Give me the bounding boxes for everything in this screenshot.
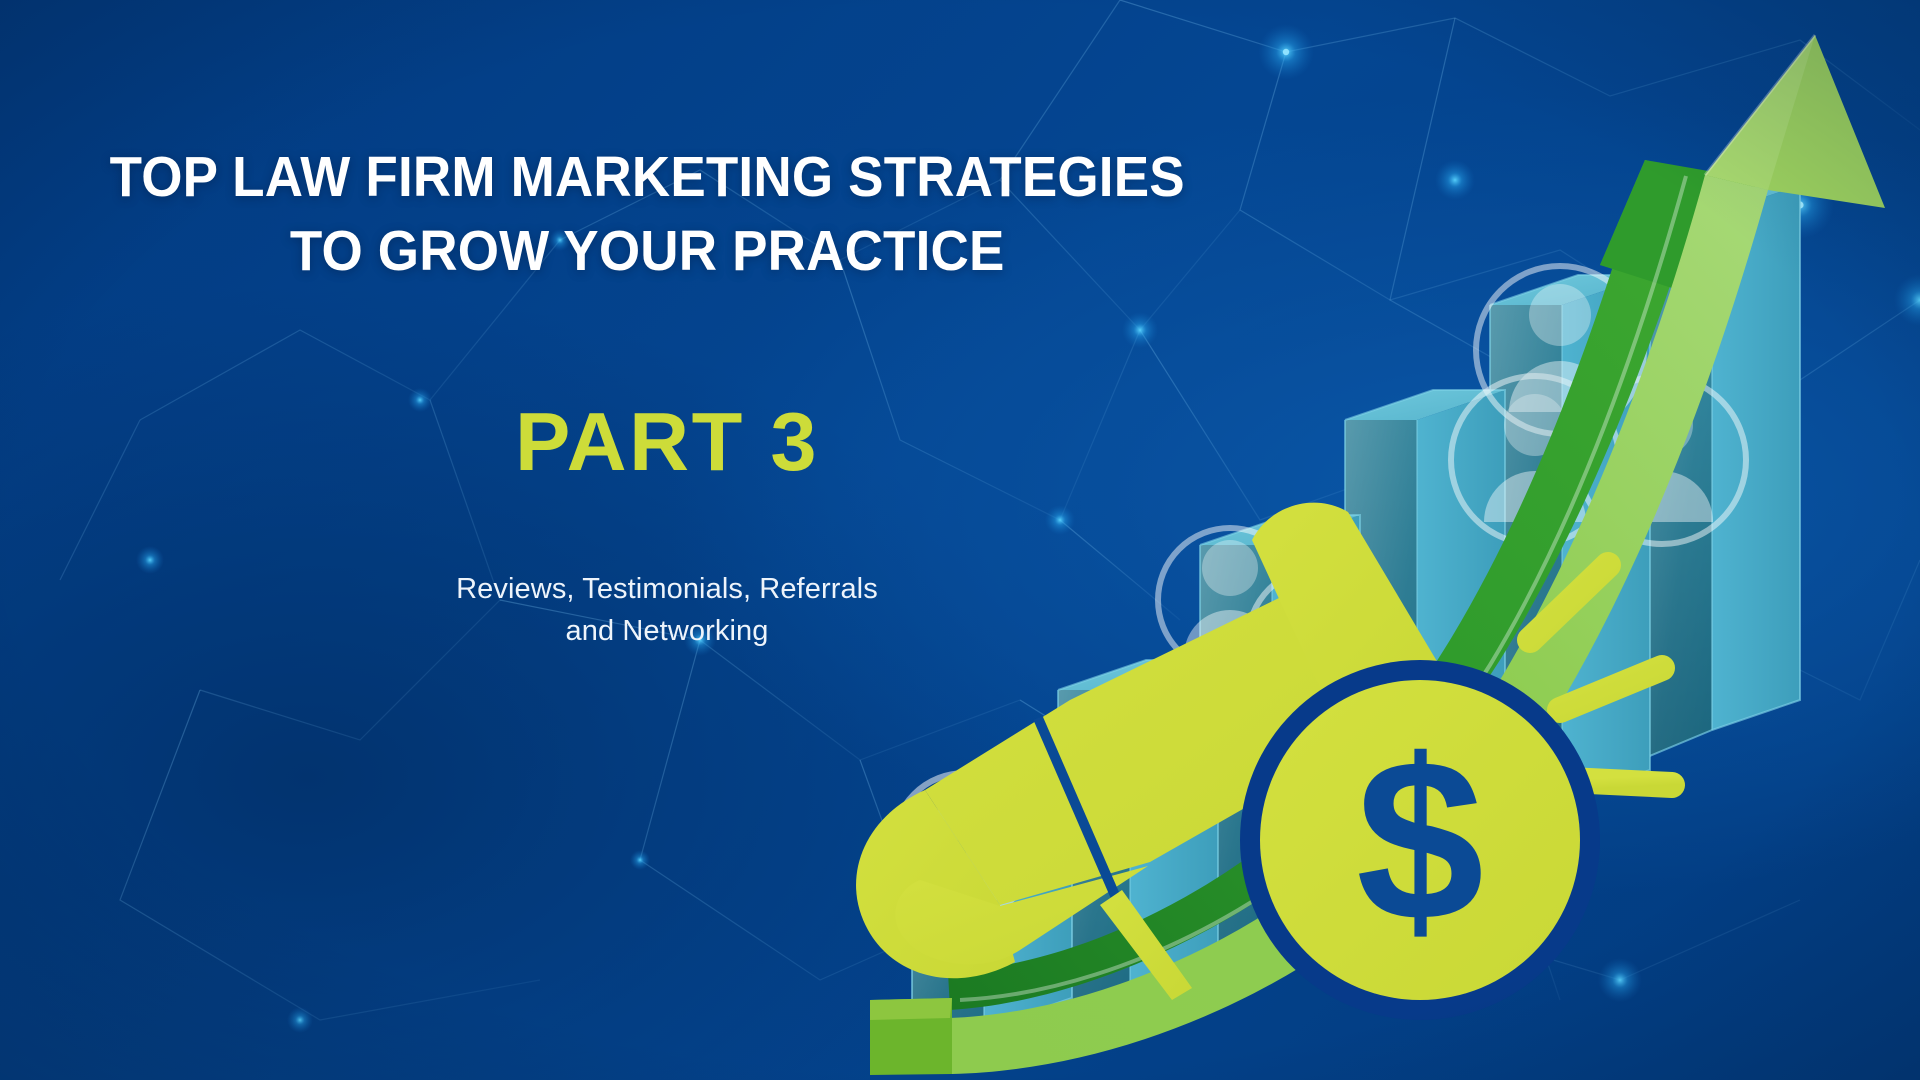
page-title: TOP LAW FIRM MARKETING STRATEGIES TO GRO…	[52, 140, 1242, 288]
headline-line-2: TO GROW YOUR PRACTICE	[52, 214, 1242, 288]
coin-dollar-symbol: $	[1356, 712, 1484, 969]
subtitle: Reviews, Testimonials, Referrals and Net…	[52, 568, 1282, 652]
subtitle-line-1: Reviews, Testimonials, Referrals	[52, 568, 1282, 610]
dollar-coin-icon: $	[1240, 660, 1600, 1020]
subtitle-line-2: and Networking	[52, 610, 1282, 652]
slide-canvas: $ TOP LAW FIRM MARKETING STRATEGIES TO G…	[0, 0, 1920, 1080]
headline-line-1: TOP LAW FIRM MARKETING STRATEGIES	[52, 140, 1242, 214]
part-label: PART 3	[52, 400, 1282, 483]
